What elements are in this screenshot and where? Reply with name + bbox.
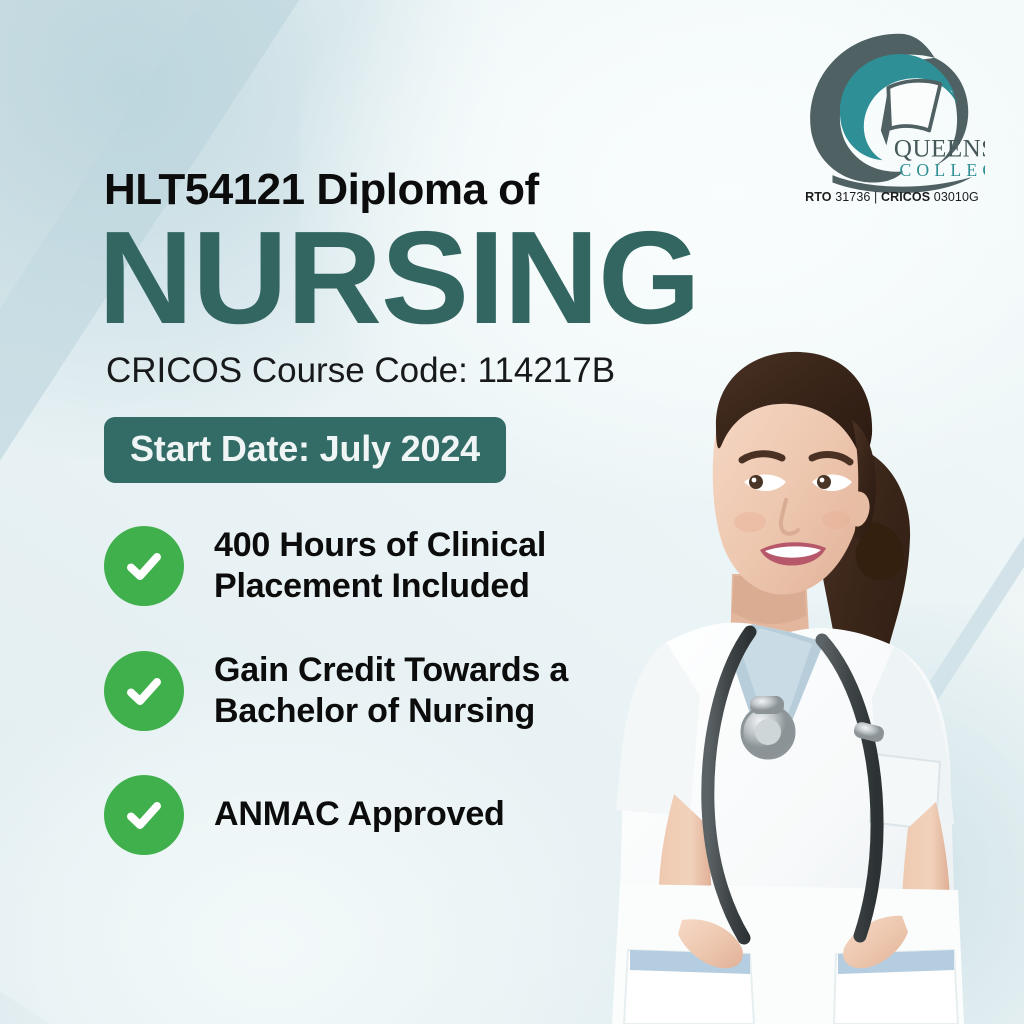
list-item: ANMAC Approved bbox=[104, 775, 804, 855]
feature-text: Gain Credit Towards a Bachelor of Nursin… bbox=[214, 650, 634, 733]
promo-poster: QUEENSFORD COLLEGE RTO 31736 | CRICOS 03… bbox=[0, 0, 1024, 1024]
feature-text: 400 Hours of Clinical Placement Included bbox=[214, 525, 634, 608]
content-column: HLT54121 Diploma of NURSING CRICOS Cours… bbox=[104, 168, 804, 855]
svg-text:QUEENSFORD: QUEENSFORD bbox=[894, 136, 985, 163]
page-title: NURSING bbox=[98, 220, 804, 336]
feature-text: ANMAC Approved bbox=[214, 794, 505, 835]
list-item: 400 Hours of Clinical Placement Included bbox=[104, 525, 804, 608]
cricos-label: CRICOS bbox=[881, 190, 930, 204]
logo-registration-line: RTO 31736 | CRICOS 03010G bbox=[788, 190, 996, 204]
logo-mark-icon: QUEENSFORD COLLEGE bbox=[799, 26, 985, 194]
check-circle-icon bbox=[104, 651, 184, 731]
registration-separator: | bbox=[874, 190, 877, 204]
cricos-number: 03010G bbox=[934, 190, 979, 204]
start-date-badge: Start Date: July 2024 bbox=[104, 417, 506, 483]
feature-list: 400 Hours of Clinical Placement Included… bbox=[104, 525, 804, 855]
queensford-college-logo: QUEENSFORD COLLEGE RTO 31736 | CRICOS 03… bbox=[788, 26, 996, 204]
check-circle-icon bbox=[104, 775, 184, 855]
svg-text:COLLEGE: COLLEGE bbox=[899, 160, 985, 180]
rto-number: 31736 bbox=[835, 190, 870, 204]
cricos-course-code: CRICOS Course Code: 114217B bbox=[106, 352, 804, 391]
rto-label: RTO bbox=[805, 190, 831, 204]
check-circle-icon bbox=[104, 526, 184, 606]
list-item: Gain Credit Towards a Bachelor of Nursin… bbox=[104, 650, 804, 733]
